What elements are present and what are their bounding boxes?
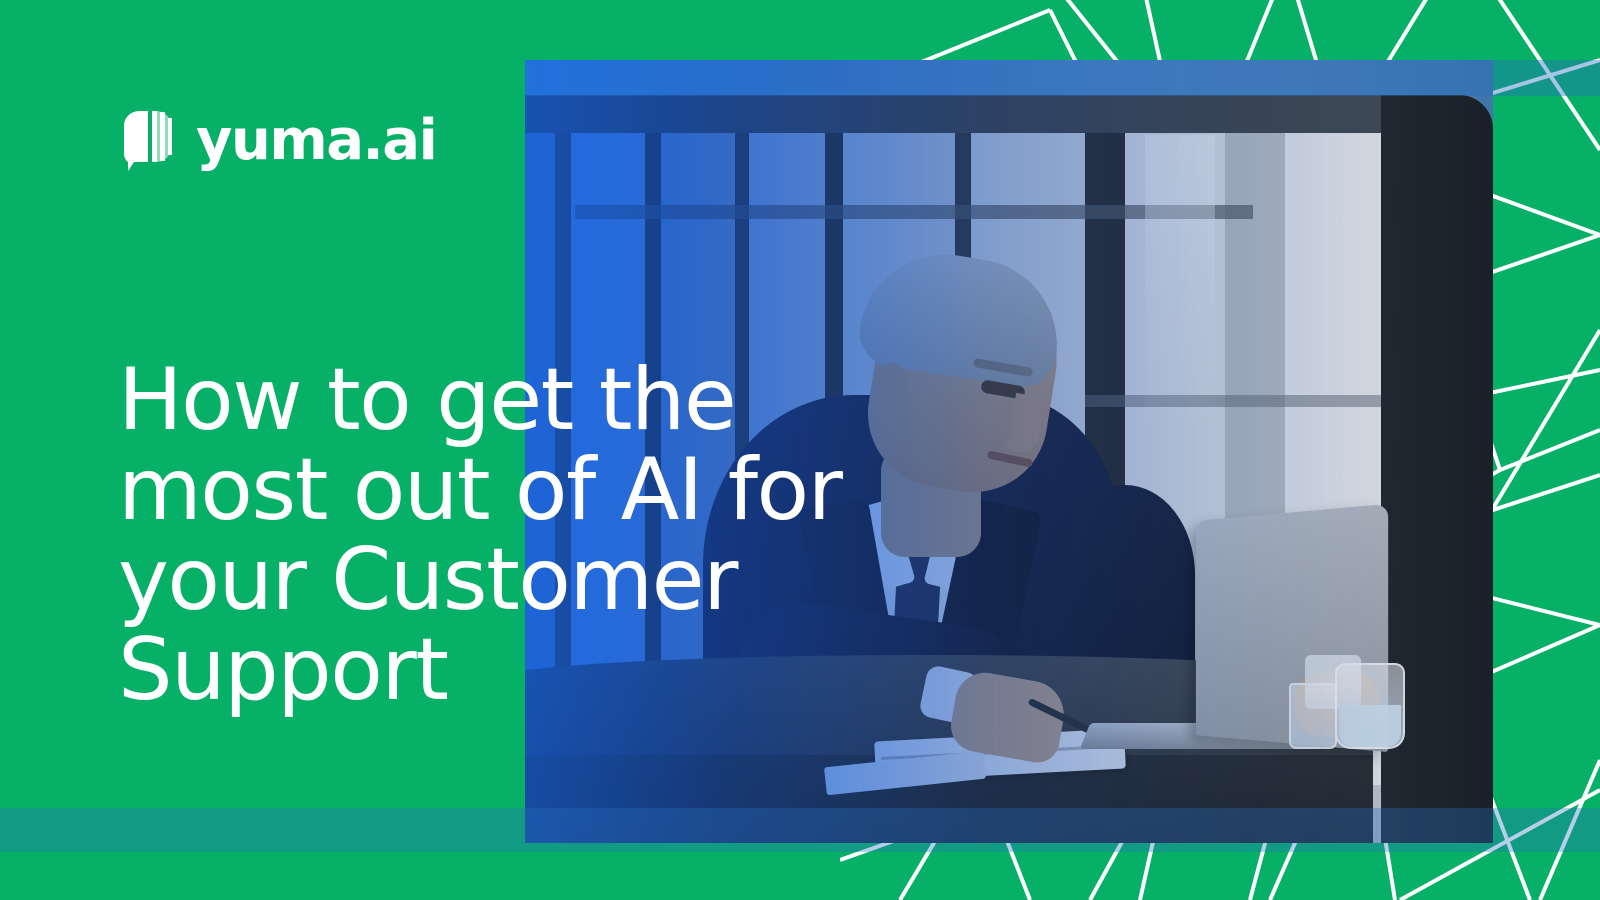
geo-line: [1540, 760, 1600, 900]
headline-line-3: your Customer: [118, 535, 878, 625]
brand-lockup[interactable]: yuma.ai: [118, 108, 436, 174]
hero-banner: yuma.ai How to get the most out of AI fo…: [0, 0, 1600, 900]
headline-line-1: How to get the: [118, 355, 878, 445]
geo-line: [1480, 330, 1600, 530]
headline-line-2: most out of AI for: [118, 445, 878, 535]
geo-line: [1500, 430, 1600, 470]
geo-line: [1480, 0, 1600, 150]
page-title: How to get the most out of AI for your C…: [118, 355, 878, 715]
headline-line-4: Support: [118, 625, 878, 715]
brand-wordmark: yuma.ai: [196, 113, 436, 169]
speech-bubble-stripes-icon: [118, 108, 176, 174]
